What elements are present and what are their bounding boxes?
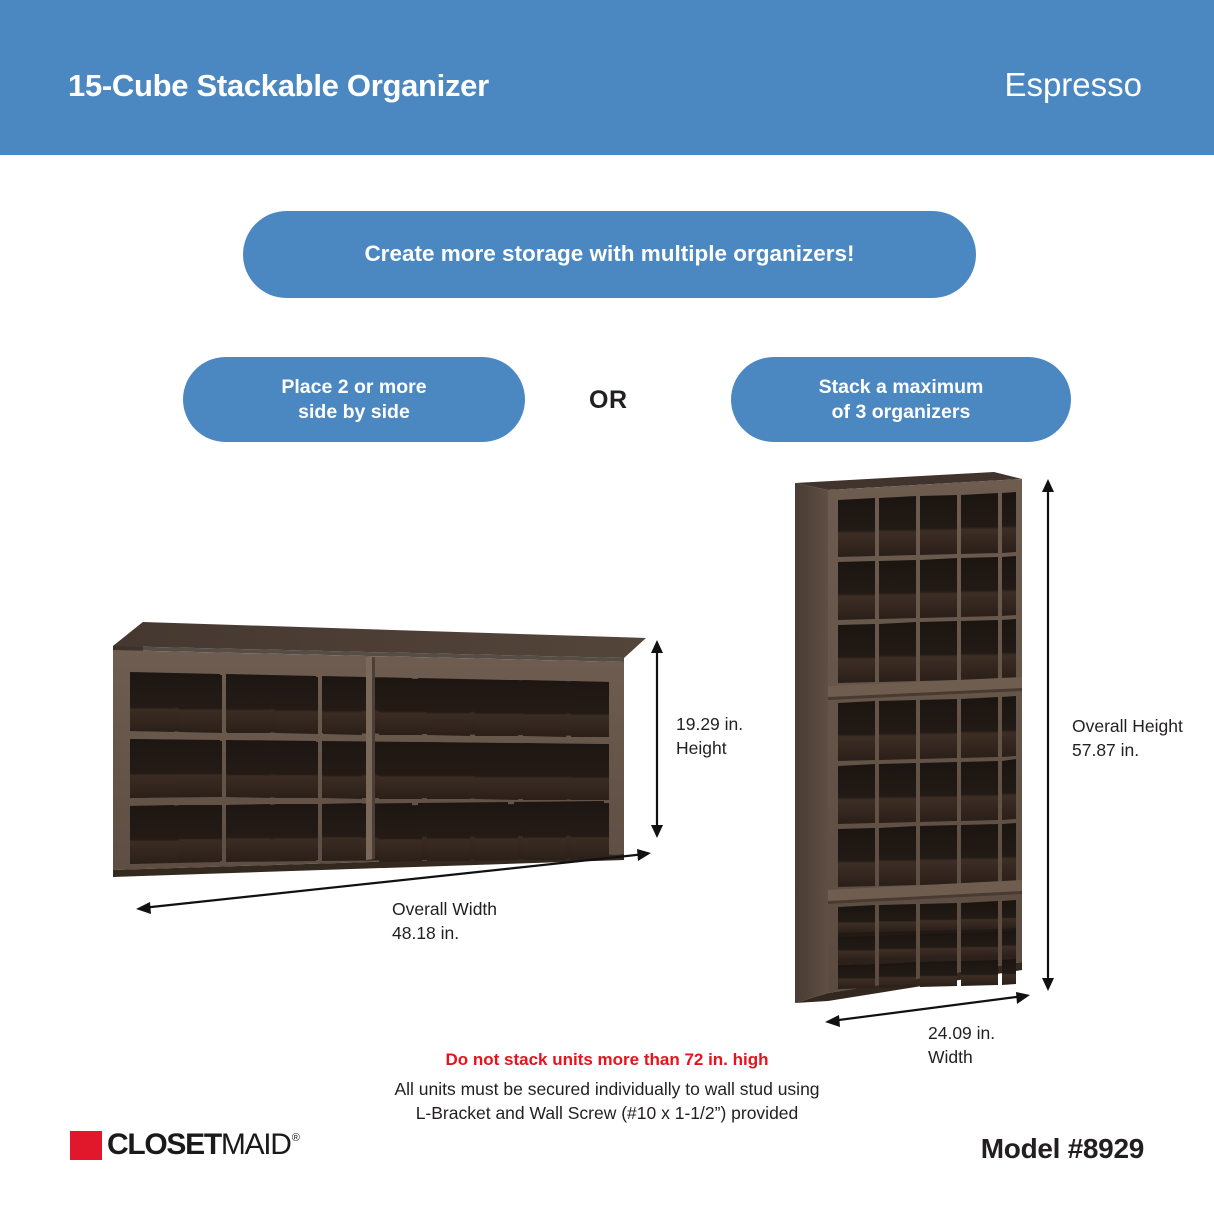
cube [879, 496, 916, 556]
color-variant-label: Espresso [1004, 66, 1142, 104]
cube [379, 678, 422, 735]
cube [427, 679, 470, 736]
tall-width-value: 24.09 in. [928, 1022, 995, 1046]
cube [838, 701, 875, 761]
cube [920, 933, 957, 959]
cube [879, 826, 916, 886]
cube [920, 762, 957, 822]
cube [275, 741, 318, 798]
callout-left-line1: Place 2 or more [281, 376, 426, 398]
cube [475, 743, 518, 800]
cube [879, 907, 916, 932]
cube [275, 676, 318, 734]
cube [131, 739, 174, 798]
cube [838, 908, 875, 933]
cube [961, 824, 998, 884]
cube [879, 763, 916, 823]
cube [275, 804, 318, 861]
cube [879, 700, 916, 760]
cube [323, 677, 362, 735]
callout-right-line2: of 3 organizers [832, 401, 971, 423]
callout-right-line1: Stack a maximum [819, 376, 984, 398]
cube [920, 961, 957, 987]
cube [961, 761, 998, 821]
cube [523, 804, 566, 860]
cube [179, 740, 222, 797]
cube [838, 936, 875, 961]
cube [1002, 903, 1016, 929]
cube [1002, 930, 1016, 957]
installation-note-line1: All units must be secured individually t… [0, 1077, 1214, 1101]
tall-unit-1 [838, 492, 1016, 683]
tall-width-arrow-line [831, 996, 1024, 1021]
brand-logo: CLOSET MAID ® [70, 1128, 300, 1162]
tall-unit-side-panel [795, 483, 828, 1003]
wide-height-caption: Height [676, 737, 743, 761]
cube [571, 744, 609, 800]
cube [879, 962, 916, 988]
cube [961, 493, 998, 554]
cube [1002, 619, 1016, 679]
brand-name-primary: CLOSET [107, 1128, 221, 1162]
cube [961, 932, 998, 958]
callout-option-stacked: Stack a maximum of 3 organizers [731, 357, 1071, 442]
cube [879, 560, 916, 619]
callout-option-side-by-side: Place 2 or more side by side [183, 357, 525, 442]
cube [920, 699, 957, 759]
cube [1002, 492, 1016, 553]
page-header: 15-Cube Stackable Organizer Espresso [0, 0, 1214, 155]
safety-warning-text: Do not stack units more than 72 in. high [0, 1050, 1214, 1070]
wide-unit-a [131, 673, 362, 864]
cube [838, 828, 875, 887]
cube [1002, 696, 1016, 757]
brand-name-secondary: MAID [221, 1128, 291, 1162]
installation-note-line2: L-Bracket and Wall Screw (#10 x 1-1/2”) … [0, 1101, 1214, 1125]
installation-note: All units must be secured individually t… [0, 1077, 1214, 1125]
cube [920, 905, 957, 931]
cube [1002, 759, 1016, 820]
cube [879, 934, 916, 960]
cube [227, 675, 270, 733]
cube [838, 764, 875, 824]
cube [179, 805, 222, 862]
cube [131, 673, 174, 732]
dimension-label-wide-height: 19.29 in. Height [676, 713, 743, 760]
cube [323, 742, 362, 799]
cube [1002, 959, 1016, 985]
wide-width-value: 48.18 in. [392, 922, 497, 946]
cube [879, 622, 916, 682]
cube [571, 681, 609, 737]
cube [838, 561, 875, 620]
model-number: Model #8929 [981, 1133, 1144, 1165]
tall-unit-2 [838, 696, 1016, 887]
cube [475, 680, 518, 736]
cube [1002, 556, 1016, 616]
cube [427, 742, 470, 799]
callout-main-banner: Create more storage with multiple organi… [243, 211, 976, 298]
cube [179, 674, 222, 733]
callout-separator-or: OR [589, 386, 628, 415]
wide-width-caption: Overall Width [392, 898, 497, 922]
cube [1002, 823, 1016, 883]
cube [961, 960, 998, 986]
tall-unit-3-lower [838, 903, 1016, 989]
dimension-label-wide-width: Overall Width 48.18 in. [392, 898, 497, 945]
cube [920, 621, 957, 681]
tall-height-value: 57.87 in. [1072, 739, 1183, 763]
product-illustration-stage [0, 450, 1214, 1070]
tall-height-caption: Overall Height [1072, 715, 1183, 739]
cube [961, 620, 998, 680]
cube [323, 803, 362, 860]
cube [227, 804, 270, 861]
dimension-label-tall-height: Overall Height 57.87 in. [1072, 715, 1183, 762]
brand-square-icon [70, 1131, 102, 1160]
callout-left-line2: side by side [298, 401, 410, 423]
cube [379, 742, 422, 799]
cube [920, 558, 957, 618]
cube [838, 624, 875, 683]
cube [571, 803, 609, 860]
cube [961, 904, 998, 930]
cube [920, 495, 957, 555]
cube [427, 805, 470, 861]
cube [961, 697, 998, 758]
wide-height-value: 19.29 in. [676, 713, 743, 737]
cube [523, 743, 566, 800]
cube [838, 498, 875, 557]
product-stacked-illustration [795, 472, 1022, 1003]
wide-unit-seam [366, 657, 375, 860]
cube [838, 964, 875, 989]
registered-trademark-icon: ® [292, 1132, 300, 1144]
cube [523, 680, 566, 737]
cube [131, 805, 174, 864]
page-title: 15-Cube Stackable Organizer [68, 68, 489, 104]
cube [920, 825, 957, 885]
cube [227, 741, 270, 798]
wide-unit-b [379, 678, 609, 862]
cube [379, 805, 422, 862]
cube [475, 804, 518, 861]
cube [961, 557, 998, 617]
